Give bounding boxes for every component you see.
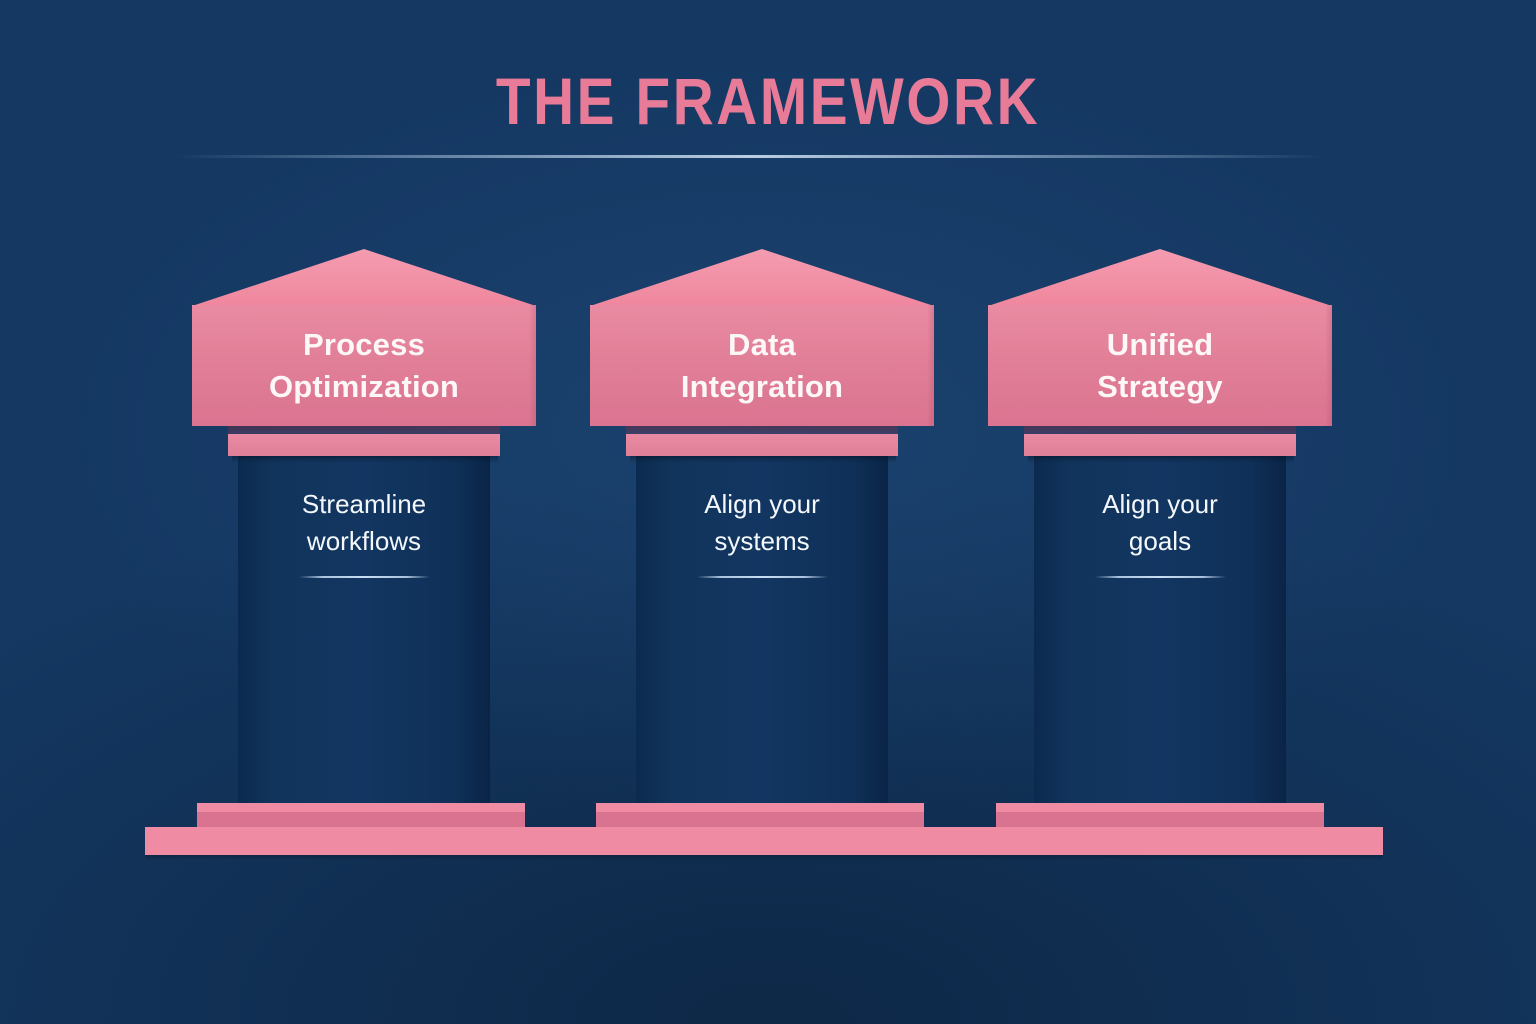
sub-capital-shadow — [1028, 456, 1294, 463]
pillar-heading-line1: Data — [728, 327, 796, 362]
title-divider-rule — [175, 155, 1325, 158]
pillar-heading-line1: Process — [303, 327, 425, 362]
base-plinth — [145, 827, 1383, 855]
pillar-heading-line1: Unified — [1107, 327, 1213, 362]
pedestal-top-edge — [596, 803, 924, 812]
pillar-capital: Process Optimization — [192, 305, 536, 426]
pillar-caption: Streamline workflows — [238, 486, 490, 560]
page-title: THE FRAMEWORK — [108, 68, 1429, 134]
pillar-process-optimization[interactable]: Process Optimization Streamline workflow… — [191, 248, 537, 808]
pillar-capital: Unified Strategy — [988, 305, 1332, 426]
pedestal-top-edge — [996, 803, 1324, 812]
pillar-heading: Process Optimization — [259, 324, 469, 407]
pillar-caption-rule — [1095, 576, 1226, 578]
pillar-caption-line1: Align your — [1102, 489, 1218, 519]
sub-capital-band — [228, 434, 500, 456]
pillar-unified-strategy[interactable]: Unified Strategy Align your goals — [987, 248, 1333, 808]
pillar-caption-rule — [697, 576, 828, 578]
pillar-caption-line2: workflows — [307, 526, 421, 556]
pillar-capital: Data Integration — [590, 305, 934, 426]
sub-capital-band — [1024, 434, 1296, 456]
pillar-caption-rule — [299, 576, 430, 578]
pillar-caption-line2: goals — [1129, 526, 1191, 556]
base-plinth-shadow — [145, 855, 1383, 860]
pillar-heading-line2: Strategy — [1097, 369, 1223, 404]
pillar-heading-line2: Optimization — [269, 369, 459, 404]
sub-capital-band — [626, 434, 898, 456]
pediment-triangle-icon — [987, 248, 1333, 308]
pillar-caption: Align your systems — [636, 486, 888, 560]
pillar-caption-line1: Streamline — [302, 489, 426, 519]
pillar-heading: Data Integration — [671, 324, 853, 407]
framework-infographic: THE FRAMEWORK Process Optimization — [0, 0, 1536, 1024]
pillar-caption-line2: systems — [714, 526, 809, 556]
pedestal-top-edge — [197, 803, 525, 812]
sub-capital-shadow — [630, 456, 896, 463]
pediment-triangle-icon — [191, 248, 537, 308]
pillar-heading: Unified Strategy — [1087, 324, 1233, 407]
pillar-data-integration[interactable]: Data Integration Align your systems — [589, 248, 935, 808]
sub-capital-shadow — [232, 456, 498, 463]
pillar-caption-line1: Align your — [704, 489, 820, 519]
pediment-triangle-icon — [589, 248, 935, 308]
pillar-heading-line2: Integration — [681, 369, 843, 404]
pillar-caption: Align your goals — [1034, 486, 1286, 560]
